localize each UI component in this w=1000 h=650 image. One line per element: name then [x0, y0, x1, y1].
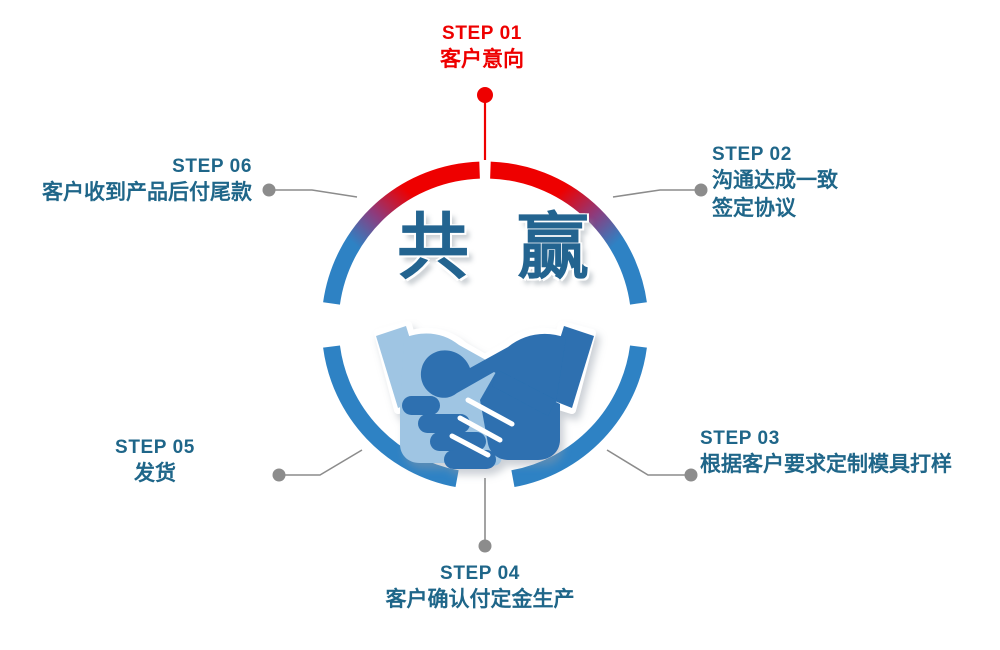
- infographic-canvas: 共 赢 STEP 01 客户意向 STEP 02 沟通达成一致 签定协议 STE…: [0, 0, 1000, 650]
- step-text-03-line1: 根据客户要求定制模具打样: [700, 451, 952, 479]
- finger-1: [402, 396, 440, 415]
- step-text-02-line2: 签定协议: [712, 195, 838, 223]
- marker-dot-step04: [479, 540, 492, 553]
- marker-dot-step06: [263, 184, 276, 197]
- step-number-03: STEP 03: [700, 427, 952, 451]
- step-text-04-line1: 客户确认付定金生产: [330, 586, 630, 614]
- connector-step03: [607, 450, 690, 475]
- process-ring: [0, 0, 1000, 650]
- step-number-04: STEP 04: [330, 562, 630, 586]
- step-label-06[interactable]: STEP 06 客户收到产品后付尾款: [10, 155, 258, 207]
- step-label-03[interactable]: STEP 03 根据客户要求定制模具打样: [700, 427, 952, 479]
- step-text-01-line1: 客户意向: [332, 46, 632, 74]
- step-number-06: STEP 06: [10, 155, 258, 179]
- step-number-05: STEP 05: [40, 436, 288, 460]
- connector-step06: [268, 190, 357, 197]
- step-text-02-line1: 沟通达成一致: [712, 167, 838, 195]
- handshake-illustration: [376, 325, 594, 469]
- step-label-02[interactable]: STEP 02 沟通达成一致 签定协议: [712, 143, 838, 223]
- step-label-05[interactable]: STEP 05 发货: [40, 436, 288, 488]
- marker-dot-step03: [685, 469, 698, 482]
- center-wordmark: 共 赢: [330, 212, 670, 284]
- marker-dot-step02: [695, 184, 708, 197]
- step-number-02: STEP 02: [712, 143, 838, 167]
- step-text-06-line1: 客户收到产品后付尾款: [10, 179, 258, 207]
- step-number-01: STEP 01: [332, 22, 632, 46]
- step-text-05-line1: 发货: [40, 460, 288, 488]
- connector-step05: [278, 450, 362, 475]
- connector-lines: [268, 100, 702, 544]
- marker-dot-step01: [477, 87, 493, 103]
- step-label-04[interactable]: STEP 04 客户确认付定金生产: [330, 562, 630, 614]
- step-label-01[interactable]: STEP 01 客户意向: [332, 22, 632, 74]
- connector-step02: [613, 190, 702, 197]
